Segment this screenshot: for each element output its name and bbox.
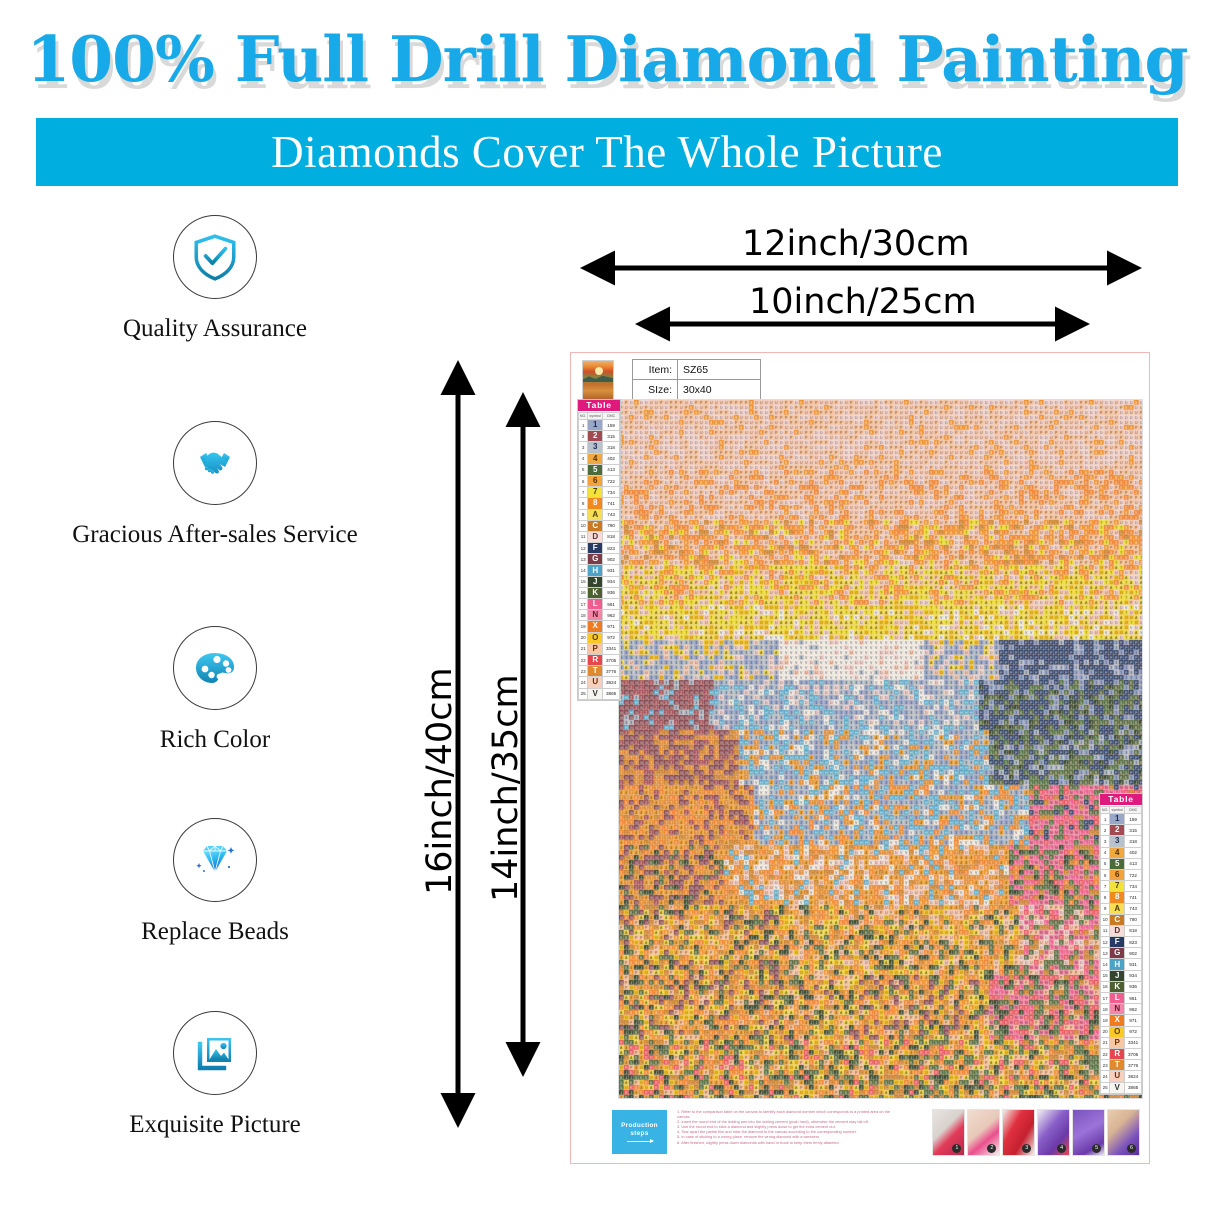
legend-symbol: U [588, 677, 603, 688]
legend-row: 22R3705 [1101, 1048, 1142, 1059]
legend-row: 88741 [1101, 892, 1142, 903]
legend-row: 19X971 [579, 621, 620, 632]
legend-no: 8 [1101, 892, 1110, 903]
legend-title: Table [578, 400, 620, 412]
legend-dmc: 315 [1125, 825, 1142, 836]
legend-dmc: 3776 [603, 666, 620, 677]
legend-row: 17L961 [579, 599, 620, 610]
legend-dmc: 823 [1125, 937, 1142, 948]
legend-no: 15 [579, 576, 588, 587]
step-line: 6. After finished, slightly press down d… [677, 1140, 897, 1145]
legend-row: 14H931 [1101, 959, 1142, 970]
legend-symbol: P [588, 643, 603, 654]
legend-symbol: 3 [588, 442, 603, 453]
legend-dmc: 318 [1125, 836, 1142, 847]
legend-row: 22315 [1101, 825, 1142, 836]
legend-dmc: 3776 [1125, 1060, 1142, 1071]
step-line: 1. Refer to the comparison table on the … [677, 1109, 897, 1119]
dimension-width-outer: 12inch/30cm [742, 224, 970, 264]
legend-table: NO.symbolDMC1115922315333184440255413667… [1100, 806, 1142, 1094]
legend-dmc: 936 [1125, 981, 1142, 992]
legend-dmc: 159 [603, 420, 620, 431]
legend-row: 24U3824 [1101, 1071, 1142, 1082]
legend-dmc: 3865 [603, 688, 620, 699]
legend-symbol: H [1110, 959, 1125, 970]
legend-dmc: 318 [603, 442, 620, 453]
legend-dmc: 734 [603, 487, 620, 498]
legend-symbol: K [1110, 981, 1125, 992]
legend-symbol: O [588, 632, 603, 643]
legend-symbol: 6 [588, 475, 603, 486]
legend-row: 20O972 [1101, 1026, 1142, 1037]
legend-no: 4 [1101, 847, 1110, 858]
legend-row: 23T3776 [579, 666, 620, 677]
legend-dmc: 934 [603, 576, 620, 587]
shield-check-icon [173, 215, 257, 299]
legend-no: 2 [1101, 825, 1110, 836]
feature-label: Rich Color [20, 726, 410, 754]
legend-row: 15J934 [579, 576, 620, 587]
legend-symbol: H [588, 565, 603, 576]
legend-no: 25 [579, 688, 588, 699]
legend-no: 15 [1101, 970, 1110, 981]
legend-symbol: D [1110, 925, 1125, 936]
feature-after-sales-service: Gracious After-sales Service [20, 421, 410, 549]
legend-row: 9A743 [1101, 903, 1142, 914]
legend-dmc: 961 [603, 599, 620, 610]
legend-row: 18N962 [1101, 1004, 1142, 1015]
diamond-painting-symbol-canvas [618, 399, 1143, 1099]
legend-dmc: 936 [603, 587, 620, 598]
page-title: 100% Full Drill Diamond Painting [0, 16, 1214, 102]
legend-symbol: G [588, 554, 603, 565]
legend-dmc: 972 [603, 632, 620, 643]
legend-symbol: J [588, 576, 603, 587]
legend-dmc: 902 [603, 554, 620, 565]
feature-quality-assurance: Quality Assurance [20, 215, 410, 343]
color-legend-left: Table NO.symbolDMC1115922315333184440255… [577, 399, 621, 701]
picture-icon [173, 1011, 257, 1095]
legend-no: 3 [579, 442, 588, 453]
legend-symbol: 7 [588, 487, 603, 498]
production-steps-row: Production steps 1. Refer to the compari… [577, 1108, 1143, 1156]
legend-no: 10 [1101, 914, 1110, 925]
legend-symbol: O [1110, 1026, 1125, 1037]
table-row: Item: SZ65 [633, 360, 761, 380]
legend-row: 21P3341 [579, 643, 620, 654]
legend-no: 7 [1101, 881, 1110, 892]
legend-no: 1 [579, 420, 588, 431]
legend-header: NO. [1101, 807, 1110, 814]
legend-symbol: L [588, 599, 603, 610]
step-photo: 4 [1037, 1109, 1070, 1156]
feature-label: Gracious After-sales Service [20, 521, 410, 549]
legend-dmc: 961 [1125, 993, 1142, 1004]
legend-row: 25V3865 [579, 688, 620, 699]
legend-row: 11D818 [579, 531, 620, 542]
legend-no: 12 [1101, 937, 1110, 948]
legend-no: 18 [579, 610, 588, 621]
legend-dmc: 780 [1125, 914, 1142, 925]
legend-symbol: J [1110, 970, 1125, 981]
legend-no: 19 [579, 621, 588, 632]
legend-no: 10 [579, 520, 588, 531]
step-photo: 2 [967, 1109, 1000, 1156]
legend-no: 5 [1101, 858, 1110, 869]
legend-row: 33318 [1101, 836, 1142, 847]
feature-replace-beads: Replace Beads [20, 818, 410, 946]
legend-no: 22 [579, 654, 588, 665]
legend-dmc: 3341 [1125, 1037, 1142, 1048]
legend-no: 6 [1101, 869, 1110, 880]
step-photo-number: 2 [987, 1144, 996, 1153]
subtitle-text: Diamonds Cover The Whole Picture [36, 118, 1178, 186]
legend-no: 17 [1101, 993, 1110, 1004]
legend-no: 25 [1101, 1082, 1110, 1093]
legend-dmc: 402 [603, 453, 620, 464]
legend-no: 13 [1101, 948, 1110, 959]
legend-symbol: 4 [588, 453, 603, 464]
legend-row: 14H931 [579, 565, 620, 576]
legend-symbol: 5 [1110, 858, 1125, 869]
legend-no: 21 [579, 643, 588, 654]
legend-row: 33318 [579, 442, 620, 453]
legend-row: 13G902 [1101, 948, 1142, 959]
legend-row: 9A743 [579, 509, 620, 520]
item-label: Item: [633, 360, 678, 380]
legend-dmc: 902 [1125, 948, 1142, 959]
item-info-table: Item: SZ65 SIze: 30x40 [632, 359, 761, 400]
palette-icon [173, 626, 257, 710]
subtitle-banner: Diamonds Cover The Whole Picture [36, 118, 1178, 186]
legend-title: Table [1100, 794, 1142, 806]
legend-symbol: T [1110, 1060, 1125, 1071]
legend-no: 3 [1101, 836, 1110, 847]
legend-dmc: 743 [603, 509, 620, 520]
legend-no: 16 [579, 587, 588, 598]
legend-no: 19 [1101, 1015, 1110, 1026]
legend-no: 13 [579, 554, 588, 565]
legend-no: 21 [1101, 1037, 1110, 1048]
legend-symbol: 8 [588, 498, 603, 509]
legend-row: 17L961 [1101, 993, 1142, 1004]
legend-row: 77734 [1101, 881, 1142, 892]
step-photo: 6 [1107, 1109, 1140, 1156]
legend-dmc: 722 [603, 475, 620, 486]
legend-no: 11 [579, 531, 588, 542]
legend-no: 9 [579, 509, 588, 520]
legend-no: 1 [1101, 814, 1110, 825]
legend-dmc: 971 [603, 621, 620, 632]
legend-row: 66722 [579, 475, 620, 486]
legend-symbol: N [588, 610, 603, 621]
feature-rich-color: Rich Color [20, 626, 410, 754]
legend-no: 20 [579, 632, 588, 643]
step-photo-number: 3 [1022, 1144, 1031, 1153]
legend-symbol: F [588, 543, 603, 554]
legend-dmc: 931 [1125, 959, 1142, 970]
legend-dmc: 3824 [1125, 1071, 1142, 1082]
legend-symbol: 5 [588, 464, 603, 475]
legend-dmc: 962 [603, 610, 620, 621]
legend-dmc: 741 [1125, 892, 1142, 903]
legend-symbol: F [1110, 937, 1125, 948]
legend-no: 14 [1101, 959, 1110, 970]
legend-symbol: G [1110, 948, 1125, 959]
legend-symbol: X [588, 621, 603, 632]
legend-row: 15J934 [1101, 970, 1142, 981]
thumbnail-sun [595, 367, 603, 375]
legend-row: 66722 [1101, 869, 1142, 880]
legend-no: 11 [1101, 925, 1110, 936]
legend-row: 44402 [579, 453, 620, 464]
legend-dmc: 780 [603, 520, 620, 531]
legend-no: 4 [579, 453, 588, 464]
legend-table: NO.symbolDMC1115922315333184440255413667… [578, 412, 620, 700]
legend-no: 24 [1101, 1071, 1110, 1082]
step-photo: 1 [932, 1109, 965, 1156]
legend-row: 13G902 [579, 554, 620, 565]
legend-symbol: N [1110, 1004, 1125, 1015]
legend-symbol: 8 [1110, 892, 1125, 903]
feature-exquisite-picture: Exquisite Picture [20, 1011, 410, 1139]
legend-row: 88741 [579, 498, 620, 509]
legend-no: 8 [579, 498, 588, 509]
legend-dmc: 734 [1125, 881, 1142, 892]
card-header-row: Item: SZ65 SIze: 30x40 [577, 359, 1143, 399]
legend-row: 10C780 [1101, 914, 1142, 925]
legend-dmc: 962 [1125, 1004, 1142, 1015]
legend-row: 11D818 [1101, 925, 1142, 936]
legend-symbol: X [1110, 1015, 1125, 1026]
legend-row: 19X971 [1101, 1015, 1142, 1026]
legend-header: NO. [579, 413, 588, 420]
legend-row: 23T3776 [1101, 1060, 1142, 1071]
color-legend-right: Table NO.symbolDMC1115922315333184440255… [1099, 793, 1143, 1095]
size-value: 30x40 [678, 380, 761, 400]
legend-symbol: 2 [588, 431, 603, 442]
legend-row: 25V3865 [1101, 1082, 1142, 1093]
legend-symbol: C [588, 520, 603, 531]
feature-list: Quality Assurance Gracious After-sales S… [20, 215, 410, 1165]
production-steps-badge: Production steps [612, 1110, 667, 1154]
legend-row: 55413 [1101, 858, 1142, 869]
legend-dmc: 934 [1125, 970, 1142, 981]
legend-dmc: 743 [1125, 903, 1142, 914]
legend-dmc: 315 [603, 431, 620, 442]
legend-no: 9 [1101, 903, 1110, 914]
legend-row: 12F823 [579, 543, 620, 554]
legend-dmc: 3824 [603, 677, 620, 688]
arrow-right-icon [627, 1141, 653, 1142]
step-photo-number: 4 [1057, 1144, 1066, 1153]
feature-label: Replace Beads [20, 918, 410, 946]
legend-dmc: 3341 [603, 643, 620, 654]
legend-row: 16K936 [1101, 981, 1142, 992]
legend-dmc: 971 [1125, 1015, 1142, 1026]
legend-symbol: 3 [1110, 836, 1125, 847]
dimension-height-outer: 16inch/40cm [420, 667, 460, 895]
legend-header: symbol [1110, 807, 1125, 814]
legend-no: 7 [579, 487, 588, 498]
legend-symbol: D [588, 531, 603, 542]
legend-no: 23 [1101, 1060, 1110, 1071]
legend-header: DMC [1125, 807, 1142, 814]
legend-dmc: 931 [603, 565, 620, 576]
legend-dmc: 3705 [1125, 1048, 1142, 1059]
diamond-icon [173, 818, 257, 902]
legend-dmc: 972 [1125, 1026, 1142, 1037]
legend-no: 6 [579, 475, 588, 486]
legend-symbol: T [588, 666, 603, 677]
legend-symbol: R [588, 654, 603, 665]
legend-row: 22315 [579, 431, 620, 442]
legend-row: 10C780 [579, 520, 620, 531]
legend-row: 11159 [1101, 814, 1142, 825]
legend-dmc: 823 [603, 543, 620, 554]
legend-header: DMC [603, 413, 620, 420]
item-value: SZ65 [678, 360, 761, 380]
feature-label: Quality Assurance [20, 315, 410, 343]
step-photo-number: 5 [1092, 1144, 1101, 1153]
legend-no: 14 [579, 565, 588, 576]
table-row: SIze: 30x40 [633, 380, 761, 400]
legend-symbol: 1 [588, 420, 603, 431]
legend-no: 22 [1101, 1048, 1110, 1059]
legend-row: 16K936 [579, 587, 620, 598]
legend-dmc: 413 [603, 464, 620, 475]
legend-row: 22R3705 [579, 654, 620, 665]
production-step-photos: 123456 [932, 1109, 1140, 1154]
legend-symbol: K [588, 587, 603, 598]
legend-symbol: R [1110, 1048, 1125, 1059]
legend-row: 55413 [579, 464, 620, 475]
legend-no: 17 [579, 599, 588, 610]
step-photo-number: 1 [952, 1144, 961, 1153]
legend-dmc: 741 [603, 498, 620, 509]
legend-row: 77734 [579, 487, 620, 498]
legend-dmc: 818 [1125, 925, 1142, 936]
legend-dmc: 413 [1125, 858, 1142, 869]
legend-symbol: 2 [1110, 825, 1125, 836]
size-label: SIze: [633, 380, 678, 400]
production-steps-title: Production steps [621, 1122, 658, 1137]
legend-dmc: 818 [603, 531, 620, 542]
legend-symbol: 1 [1110, 814, 1125, 825]
legend-row: 11159 [579, 420, 620, 431]
feature-label: Exquisite Picture [20, 1111, 410, 1139]
legend-no: 16 [1101, 981, 1110, 992]
legend-row: 18N962 [579, 610, 620, 621]
legend-symbol: 6 [1110, 869, 1125, 880]
legend-row: 21P3341 [1101, 1037, 1142, 1048]
legend-no: 2 [579, 431, 588, 442]
step-photo: 3 [1002, 1109, 1035, 1156]
legend-dmc: 159 [1125, 814, 1142, 825]
thumbnail-ridge [583, 375, 613, 382]
legend-row: 44402 [1101, 847, 1142, 858]
production-steps-text: 1. Refer to the comparison table on the … [677, 1109, 897, 1145]
legend-dmc: 402 [1125, 847, 1142, 858]
legend-symbol: V [588, 688, 603, 699]
legend-no: 24 [579, 677, 588, 688]
canvas-thumbnail-preview [582, 360, 614, 400]
legend-no: 18 [1101, 1004, 1110, 1015]
step-photo: 5 [1072, 1109, 1105, 1156]
legend-no: 20 [1101, 1026, 1110, 1037]
legend-symbol: U [1110, 1071, 1125, 1082]
legend-no: 23 [579, 666, 588, 677]
legend-symbol: 4 [1110, 847, 1125, 858]
legend-symbol: P [1110, 1037, 1125, 1048]
legend-dmc: 3865 [1125, 1082, 1142, 1093]
legend-symbol: A [588, 509, 603, 520]
legend-dmc: 722 [1125, 869, 1142, 880]
legend-header: symbol [588, 413, 603, 420]
legend-dmc: 3705 [603, 654, 620, 665]
legend-no: 5 [579, 464, 588, 475]
legend-symbol: V [1110, 1082, 1125, 1093]
dimension-height-inner: 14inch/35cm [486, 674, 526, 902]
legend-symbol: A [1110, 903, 1125, 914]
legend-row: 24U3824 [579, 677, 620, 688]
legend-row: 12F823 [1101, 937, 1142, 948]
legend-no: 12 [579, 543, 588, 554]
legend-symbol: 7 [1110, 881, 1125, 892]
legend-symbol: L [1110, 993, 1125, 1004]
product-canvas-card: Item: SZ65 SIze: 30x40 Table NO.symbolDM… [570, 352, 1150, 1164]
dimension-width-inner: 10inch/25cm [749, 282, 977, 322]
legend-symbol: C [1110, 914, 1125, 925]
step-photo-number: 6 [1127, 1144, 1136, 1153]
handshake-icon [173, 421, 257, 505]
legend-row: 20O972 [579, 632, 620, 643]
